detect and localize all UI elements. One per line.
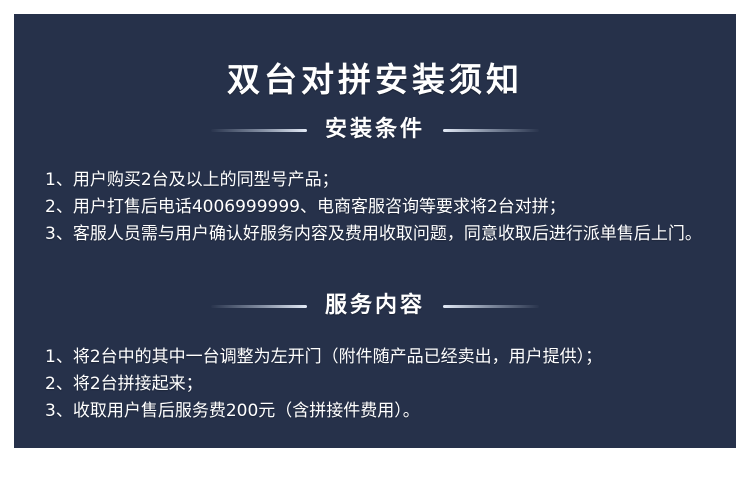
section-header-installation-conditions: 安装条件 <box>14 119 736 141</box>
list-item: 2、将2台拼接起来； <box>45 371 716 398</box>
list-item: 1、用户购买2台及以上的同型号产品； <box>45 167 716 194</box>
list-item: 3、客服人员需与用户确认好服务内容及费用收取问题，同意收取后进行派单售后上门。 <box>45 221 716 248</box>
section-rule-left-icon <box>211 305 307 308</box>
list-item: 1、将2台中的其中一台调整为左开门（附件随产品已经卖出，用户提供）； <box>45 344 716 371</box>
section-rule-right-icon <box>443 305 539 308</box>
installation-conditions-list: 1、用户购买2台及以上的同型号产品； 2、用户打售后电话4006999999、电… <box>45 167 716 248</box>
notice-panel: 双台对拼安装须知 安装条件 1、用户购买2台及以上的同型号产品； 2、用户打售后… <box>14 14 736 448</box>
list-item: 2、用户打售后电话4006999999、电商客服咨询等要求将2台对拼； <box>45 194 716 221</box>
section-title-installation-conditions: 安装条件 <box>325 119 425 141</box>
section-title-service-content: 服务内容 <box>325 295 425 317</box>
section-rule-left-icon <box>211 129 307 132</box>
notice-page: 双台对拼安装须知 安装条件 1、用户购买2台及以上的同型号产品； 2、用户打售后… <box>0 0 750 500</box>
section-rule-right-icon <box>443 129 539 132</box>
page-title: 双台对拼安装须知 <box>227 62 523 98</box>
page-title-container: 双台对拼安装须知 <box>14 40 736 121</box>
list-item: 3、收取用户售后服务费200元（含拼接件费用）。 <box>45 398 716 425</box>
service-content-list: 1、将2台中的其中一台调整为左开门（附件随产品已经卖出，用户提供）； 2、将2台… <box>45 344 716 425</box>
section-header-service-content: 服务内容 <box>14 295 736 317</box>
